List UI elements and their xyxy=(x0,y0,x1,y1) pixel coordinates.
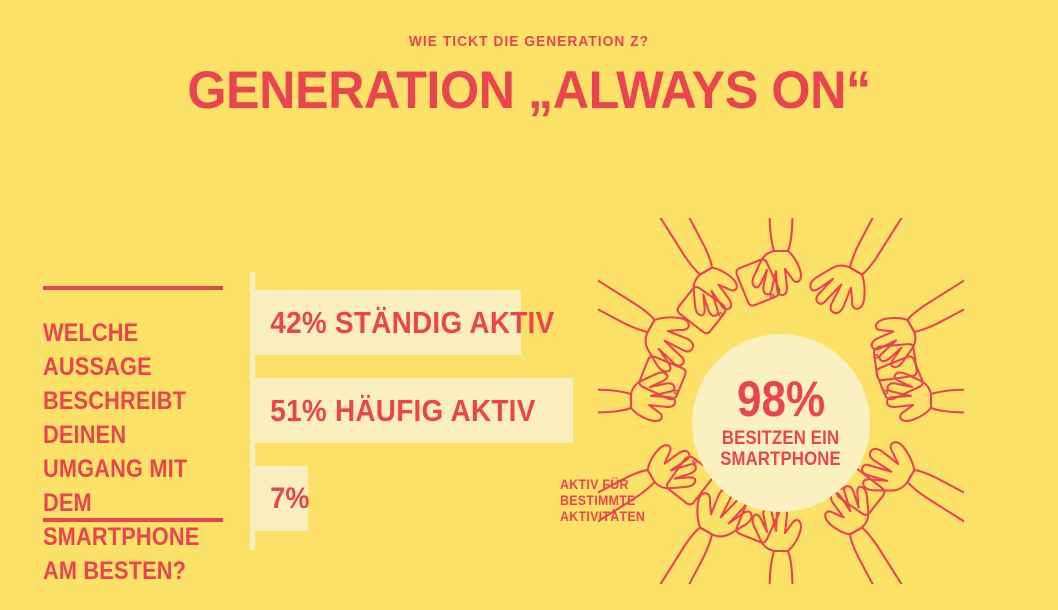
stat-badge-circle: 98% BESITZEN EIN SMARTPHONE xyxy=(692,334,870,512)
bar-row: 7% xyxy=(255,466,308,531)
question-text: WELCHE AUSSAGE BESCHREIBT DEINEN UMGANG … xyxy=(43,316,200,588)
bar-row: 42% STÄNDIG AKTIV xyxy=(255,290,521,355)
bar-label: 42% STÄNDIG AKTIV xyxy=(255,305,554,341)
stat-badge-percent: 98% xyxy=(737,376,825,422)
infographic-canvas: WIE TICKT DIE GENERATION Z? GENERATION „… xyxy=(0,0,1058,587)
stat-badge-caption-line2: SMARTPHONE xyxy=(721,449,842,470)
kicker-text: WIE TICKT DIE GENERATION Z? xyxy=(42,33,1015,50)
question-rule-top xyxy=(43,286,223,290)
bar-percent: 7% xyxy=(255,482,309,516)
bar-chart: 42% STÄNDIG AKTIV 51% HÄUFIG AKTIV 7% AK… xyxy=(250,272,590,550)
question-block: WELCHE AUSSAGE BESCHREIBT DEINEN UMGANG … xyxy=(43,286,223,610)
question-rule-bottom xyxy=(43,518,223,522)
bar-row: 51% HÄUFIG AKTIV xyxy=(255,378,573,443)
bar-label: 51% HÄUFIG AKTIV xyxy=(255,393,536,429)
stat-badge-caption: BESITZEN EIN SMARTPHONE xyxy=(721,428,842,470)
stat-badge-caption-line1: BESITZEN EIN xyxy=(721,428,842,449)
page-title: GENERATION „ALWAYS ON“ xyxy=(26,60,1031,122)
stat-badge-illustration: 98% BESITZEN EIN SMARTPHONE xyxy=(598,218,964,584)
